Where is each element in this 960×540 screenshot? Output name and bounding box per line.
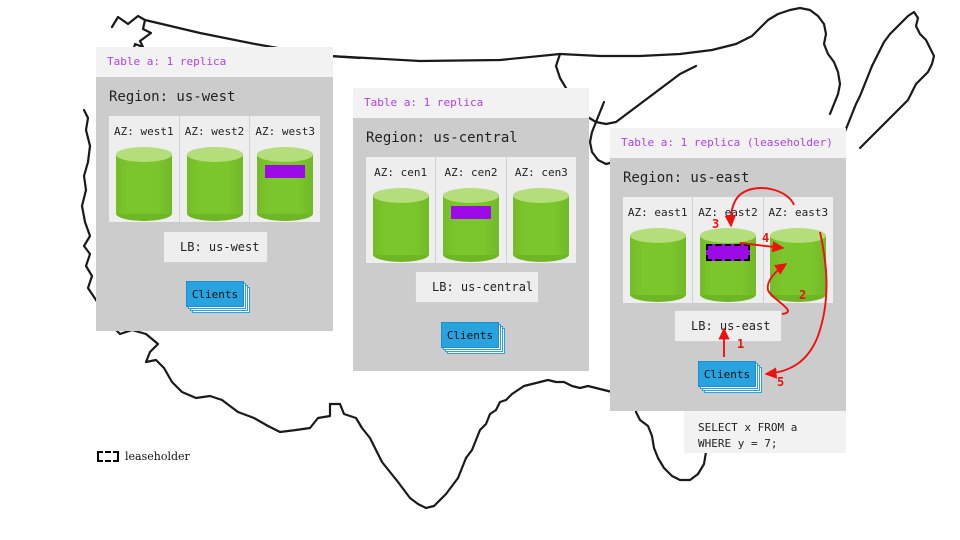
cylinder-top xyxy=(770,228,826,243)
az-cell-cen3[interactable]: AZ: cen3 xyxy=(507,157,576,263)
panel-header-us-central: Table a: 1 replica xyxy=(353,88,589,118)
diagram-canvas: Table a: 1 replica Region: us-west AZ: w… xyxy=(0,0,960,540)
cylinder-shading xyxy=(116,154,172,214)
az-row-us-central: AZ: cen1 AZ: cen2 A xyxy=(366,157,576,263)
node-cylinder-west2[interactable] xyxy=(187,147,243,208)
node-cylinder-cen1[interactable] xyxy=(373,188,429,249)
replica-marker-west3 xyxy=(265,165,305,178)
cylinder-shading xyxy=(513,195,569,255)
legend-label-leaseholder: leaseholder xyxy=(125,450,190,463)
node-cylinder-cen3[interactable] xyxy=(513,188,569,249)
cylinder-top xyxy=(187,147,243,162)
az-label-west3: AZ: west3 xyxy=(255,125,315,138)
replica-marker-cen2 xyxy=(451,206,491,219)
legend-leaseholder: leaseholder xyxy=(97,450,190,463)
panel-header-us-east: Table a: 1 replica (leaseholder) xyxy=(610,128,846,158)
cylinder-shading xyxy=(443,195,499,255)
az-label-cen1: AZ: cen1 xyxy=(374,166,427,179)
leaseholder-replica-marker-east2 xyxy=(706,244,750,261)
cylinder-shading xyxy=(770,235,826,295)
flow-step-number-5: 5 xyxy=(777,375,784,389)
region-title-us-central: Region: us-central xyxy=(353,118,589,157)
cylinder-top xyxy=(116,147,172,162)
clients-label-us-central[interactable]: Clients xyxy=(441,322,499,348)
flow-step-number-2: 2 xyxy=(799,288,806,302)
cylinder-top xyxy=(700,228,756,243)
az-label-east3: AZ: east3 xyxy=(769,206,829,219)
az-cell-west2[interactable]: AZ: west2 xyxy=(180,116,251,222)
load-balancer-us-east[interactable]: LB: us-east xyxy=(674,310,782,342)
cylinder-top xyxy=(630,228,686,243)
node-cylinder-west3[interactable] xyxy=(257,147,313,208)
node-cylinder-east2[interactable] xyxy=(700,228,756,289)
az-label-east2: AZ: east2 xyxy=(698,206,758,219)
az-cell-cen2[interactable]: AZ: cen2 xyxy=(436,157,506,263)
cylinder-top xyxy=(443,188,499,203)
clients-us-east[interactable]: Clients xyxy=(698,361,756,387)
cylinder-shading xyxy=(373,195,429,255)
clients-us-central[interactable]: Clients xyxy=(441,322,499,348)
az-row-us-west: AZ: west1 AZ: west2 AZ: west3 xyxy=(109,116,320,222)
panel-header-us-west: Table a: 1 replica xyxy=(96,47,333,77)
load-balancer-us-west[interactable]: LB: us-west xyxy=(163,231,268,263)
clients-us-west[interactable]: Clients xyxy=(186,281,244,307)
az-label-cen3: AZ: cen3 xyxy=(515,166,568,179)
flow-step-number-3: 3 xyxy=(712,217,719,231)
az-cell-cen1[interactable]: AZ: cen1 xyxy=(366,157,436,263)
node-cylinder-east3[interactable] xyxy=(770,228,826,289)
az-label-west1: AZ: west1 xyxy=(114,125,174,138)
az-cell-west1[interactable]: AZ: west1 xyxy=(109,116,180,222)
flow-step-number-1: 1 xyxy=(737,337,744,351)
cylinder-shading xyxy=(630,235,686,295)
load-balancer-us-central[interactable]: LB: us-central xyxy=(415,271,539,303)
clients-label-us-west[interactable]: Clients xyxy=(186,281,244,307)
cylinder-top xyxy=(373,188,429,203)
region-title-us-east: Region: us-east xyxy=(610,158,846,197)
leaseholder-swatch-icon xyxy=(97,451,119,462)
flow-step-number-4: 4 xyxy=(762,231,769,245)
node-cylinder-east1[interactable] xyxy=(630,228,686,289)
node-cylinder-west1[interactable] xyxy=(116,147,172,208)
cylinder-top xyxy=(257,147,313,162)
node-cylinder-cen2[interactable] xyxy=(443,188,499,249)
az-label-west2: AZ: west2 xyxy=(185,125,245,138)
az-cell-east2[interactable]: AZ: east2 xyxy=(693,197,763,303)
region-title-us-west: Region: us-west xyxy=(96,77,333,116)
az-cell-east1[interactable]: AZ: east1 xyxy=(623,197,693,303)
cylinder-top xyxy=(513,188,569,203)
clients-label-us-east[interactable]: Clients xyxy=(698,361,756,387)
cylinder-shading xyxy=(187,154,243,214)
az-cell-west3[interactable]: AZ: west3 xyxy=(250,116,320,222)
sql-query-box: SELECT x FROM a WHERE y = 7; xyxy=(684,411,846,453)
az-label-east1: AZ: east1 xyxy=(628,206,688,219)
cylinder-shading xyxy=(257,154,313,214)
az-label-cen2: AZ: cen2 xyxy=(445,166,498,179)
